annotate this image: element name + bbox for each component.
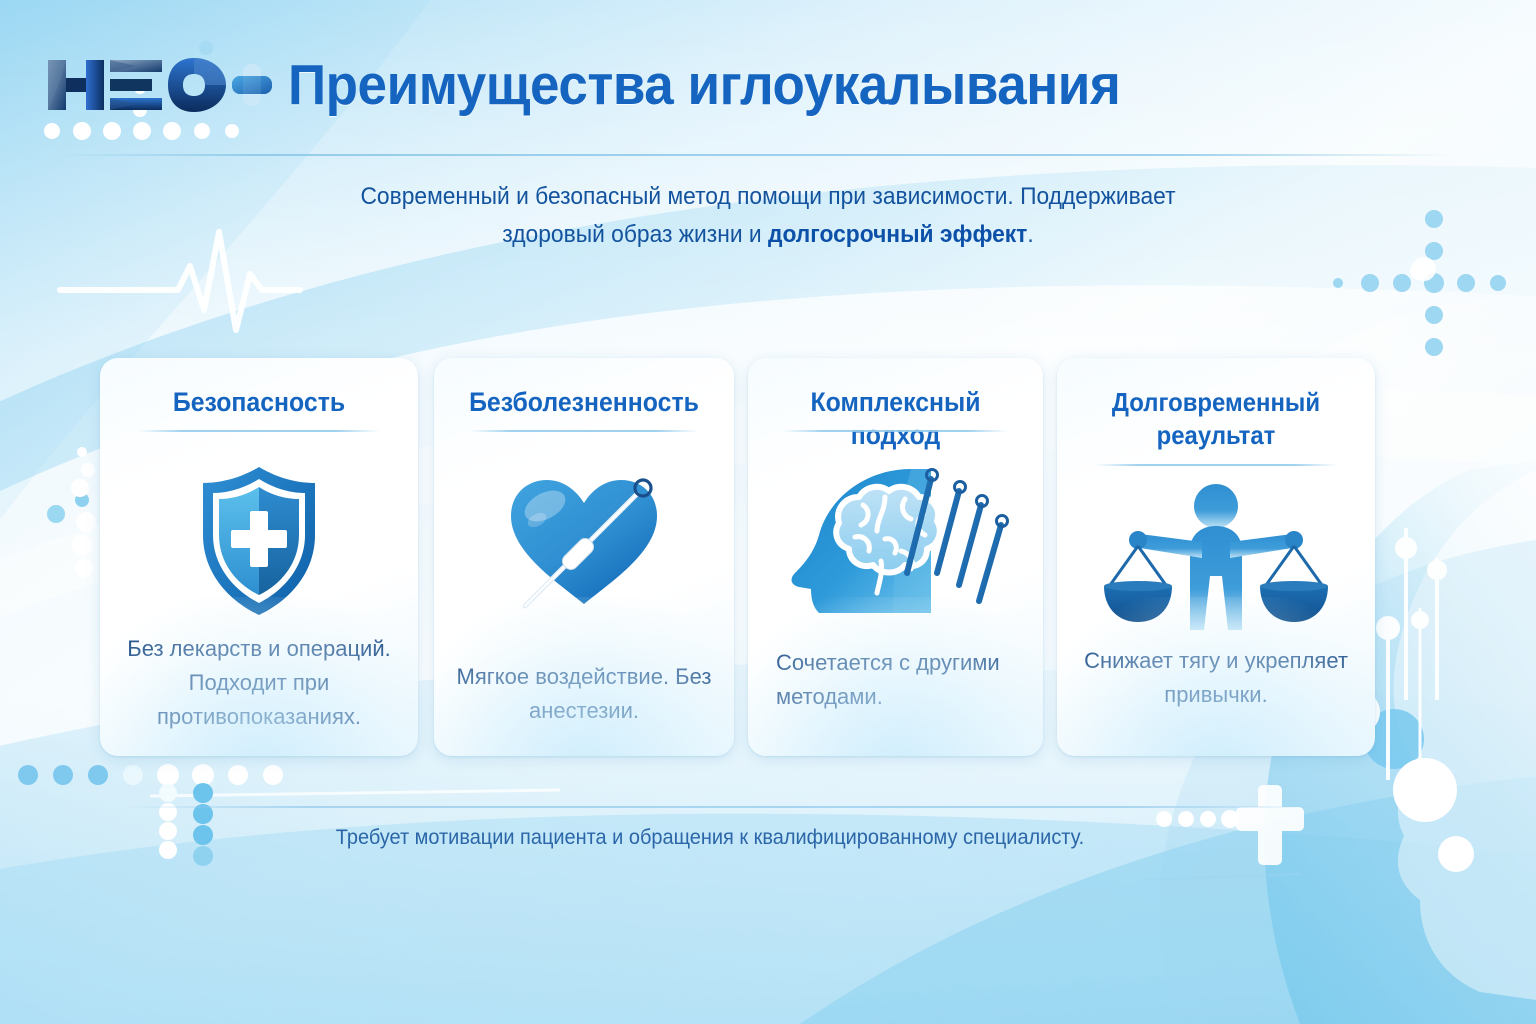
card-long-term-result-title: Долговременный реаультат (1070, 386, 1363, 452)
page-title: Преимущества иглоукалывания (288, 52, 1120, 118)
card-painless[interactable]: Безболезненность (434, 358, 734, 756)
subtitle-highlight: долгосрочный эффект (768, 221, 1027, 248)
subtitle-line-2-tail: . (1027, 221, 1033, 248)
card-divider (470, 430, 698, 432)
subtitle-line-2-plain: здоровый образ жизни и (502, 221, 768, 248)
card-complex-approach-title: Комплексный подход (760, 386, 1031, 452)
subtitle-line-1: Современный и безопасный метод помощи пр… (360, 183, 1175, 210)
card-divider (1095, 464, 1337, 466)
subtitle: Современный и безопасный метод помощи пр… (293, 178, 1243, 254)
card-complex-approach[interactable]: Комплексный подход (748, 358, 1043, 756)
benefit-cards: Безопасность (0, 358, 1536, 758)
infographic-canvas: Преимущества иглоукалывания Современный … (0, 0, 1536, 1024)
balance-scales-person-icon (1057, 470, 1375, 640)
card-safety-title: Безопасность (113, 386, 406, 419)
card-complex-approach-text: Сочетается с другими методами. (748, 646, 1043, 714)
header-divider (56, 154, 1456, 156)
header: Преимущества иглоукалывания (0, 0, 1536, 152)
card-divider (138, 430, 380, 432)
brand-logo[interactable] (44, 46, 274, 124)
card-painless-title: Безболезненность (446, 386, 722, 419)
card-safety[interactable]: Безопасность (100, 358, 418, 756)
card-safety-text: Без лекарств и операций. Подходит при пр… (100, 632, 418, 734)
heart-needle-icon (434, 446, 734, 636)
card-long-term-result-text: Снижает тягу и укрепляет привычки. (1057, 644, 1375, 712)
card-long-term-result[interactable]: Долговременный реаультат (1057, 358, 1375, 756)
card-painless-text: Мягкое воздействие. Без анестезии. (434, 660, 734, 728)
shield-cross-icon (100, 446, 418, 636)
card-divider (783, 430, 1007, 432)
footer-note: Требует мотивации пациента и обращения к… (36, 826, 1385, 850)
footer-divider (120, 806, 1320, 808)
head-brain-needles-icon (748, 446, 1043, 636)
